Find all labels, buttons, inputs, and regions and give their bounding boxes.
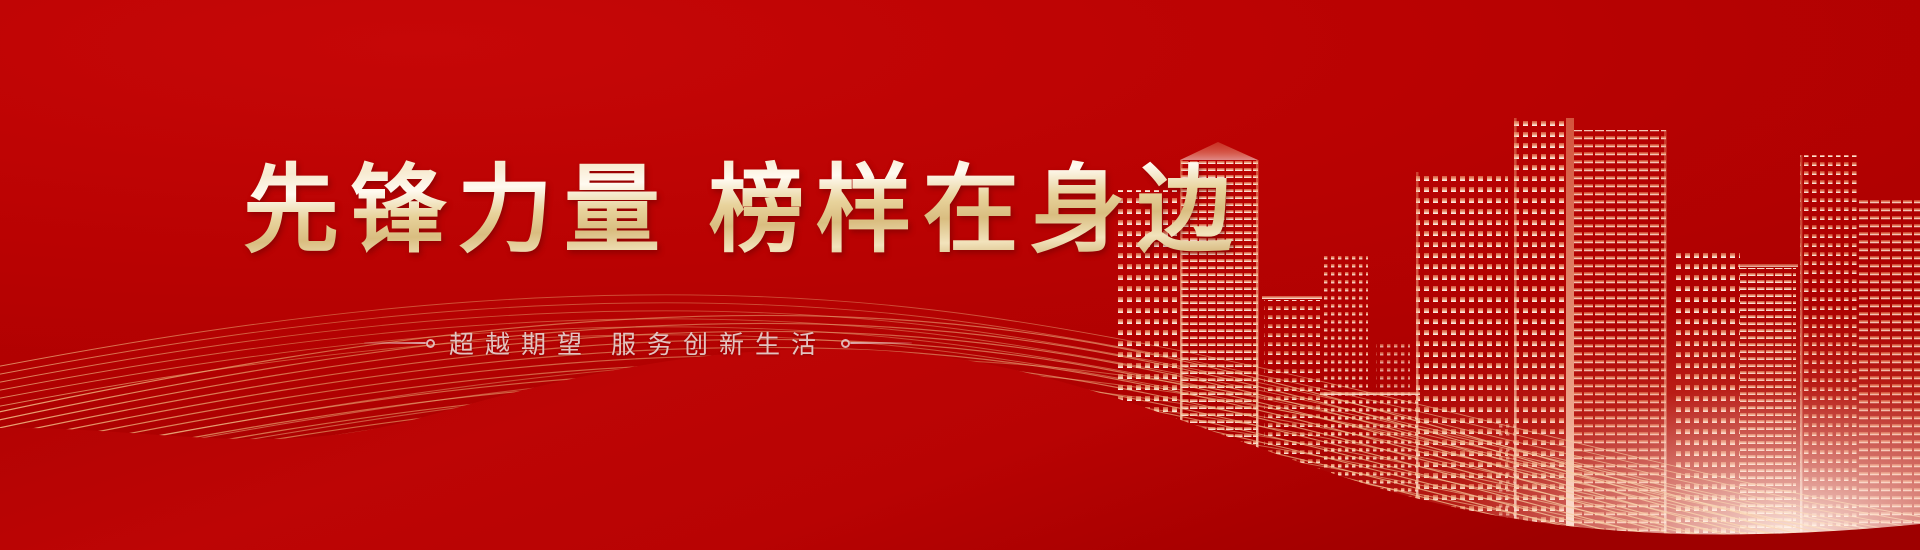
decorative-line-right (841, 339, 912, 348)
banner-title: 先锋力量 榜样在身边 (243, 152, 1244, 269)
banner-subtitle-row: 超越期望 服务创新生活 (243, 325, 1033, 361)
decorative-dot-right (841, 339, 850, 348)
decorative-dot-left (426, 339, 435, 348)
promotional-banner: 先锋力量 榜样在身边 超越期望 服务创新生活 (0, 0, 1920, 550)
decorative-bar-left (364, 342, 426, 344)
decorative-bar-right (850, 342, 912, 344)
decorative-line-left (364, 339, 435, 348)
banner-content: 先锋力量 榜样在身边 超越期望 服务创新生活 (0, 0, 1920, 550)
banner-subtitle: 超越期望 服务创新生活 (449, 325, 827, 361)
